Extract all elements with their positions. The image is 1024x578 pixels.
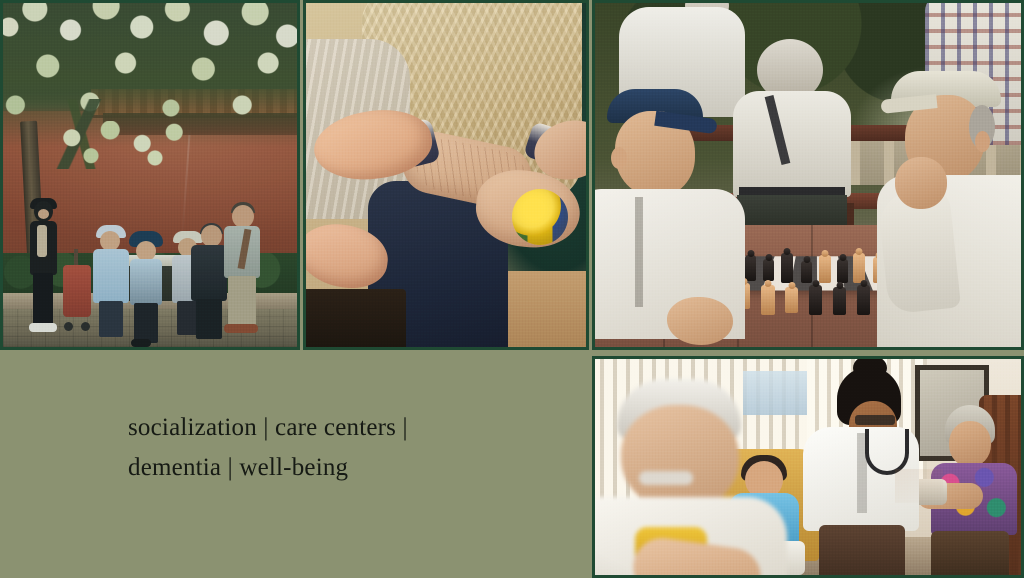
legs <box>99 301 123 337</box>
image-panel-courtyard[interactable] <box>0 0 300 350</box>
torso <box>93 249 129 303</box>
trolley-wheel <box>64 322 73 331</box>
figure-nurse <box>799 367 927 575</box>
legs <box>931 531 1009 575</box>
head <box>201 225 222 247</box>
shoes <box>29 323 57 332</box>
figure-resident-patterned-blouse <box>931 405 1021 575</box>
chess-piece-dark <box>809 285 822 315</box>
legs <box>33 273 53 325</box>
caption-line-2: dementia | well-being <box>128 454 348 481</box>
shoes <box>224 324 258 333</box>
figure-foreground-elderly-man <box>595 379 787 575</box>
legs <box>196 299 222 339</box>
figure-chess-player-left <box>595 85 751 347</box>
figure-chess-player-right <box>877 71 1021 347</box>
legs <box>228 276 256 326</box>
chess-piece-dark <box>833 287 846 315</box>
brown-trousers <box>819 525 905 575</box>
chess-piece-light <box>819 255 831 283</box>
figure-seated-bucket-hat <box>127 231 165 339</box>
shoe <box>131 339 151 347</box>
chess-piece-dark <box>857 285 870 315</box>
scarf <box>37 225 47 257</box>
head <box>232 205 254 228</box>
moustache <box>639 471 693 485</box>
figure-standing-grey-shirt <box>221 205 263 337</box>
legs <box>134 303 158 343</box>
ear <box>975 131 990 152</box>
therapy-stress-ball <box>512 189 568 245</box>
face <box>38 209 49 219</box>
shopping-trolley <box>63 265 91 331</box>
shirt-placket <box>635 197 643 307</box>
head <box>949 421 991 467</box>
ear <box>611 147 627 169</box>
chess-piece-light <box>785 287 798 313</box>
trolley-bag <box>63 265 91 317</box>
caption-line-1: socialization | care centers | <box>128 414 408 441</box>
head <box>136 241 156 261</box>
keyword-caption: socialization | care centers |dementia |… <box>128 408 548 488</box>
care-center-scene <box>595 359 1021 575</box>
figure-seated-light-blue-jacket <box>91 225 131 335</box>
trolley-wheel <box>81 322 90 331</box>
arm <box>895 469 943 503</box>
chess-piece-dark <box>763 259 774 281</box>
head <box>621 405 739 511</box>
figure-standing-woman-black <box>25 201 61 335</box>
image-panel-hands[interactable] <box>303 0 589 350</box>
chess-scene <box>595 3 1021 347</box>
hanging-blossoms <box>43 121 203 177</box>
slide-canvas: socialization | care centers |dementia |… <box>0 0 1024 578</box>
eyeglasses <box>855 415 895 425</box>
caption-block: socialization | care centers |dementia |… <box>0 350 592 578</box>
chess-piece-dark <box>801 261 812 283</box>
chair-leg <box>306 289 406 347</box>
chess-piece-light <box>853 253 865 283</box>
chess-piece-dark <box>837 259 848 283</box>
chess-piece-light <box>761 285 775 315</box>
hand <box>667 297 733 345</box>
head <box>100 231 120 251</box>
image-panel-care-center[interactable] <box>592 356 1024 578</box>
hands-scene <box>306 3 586 347</box>
image-panel-chess[interactable] <box>592 0 1024 350</box>
chess-piece-dark <box>781 253 793 283</box>
courtyard-scene <box>3 3 297 347</box>
hand-supporting-head <box>895 157 947 209</box>
torso <box>130 259 162 305</box>
